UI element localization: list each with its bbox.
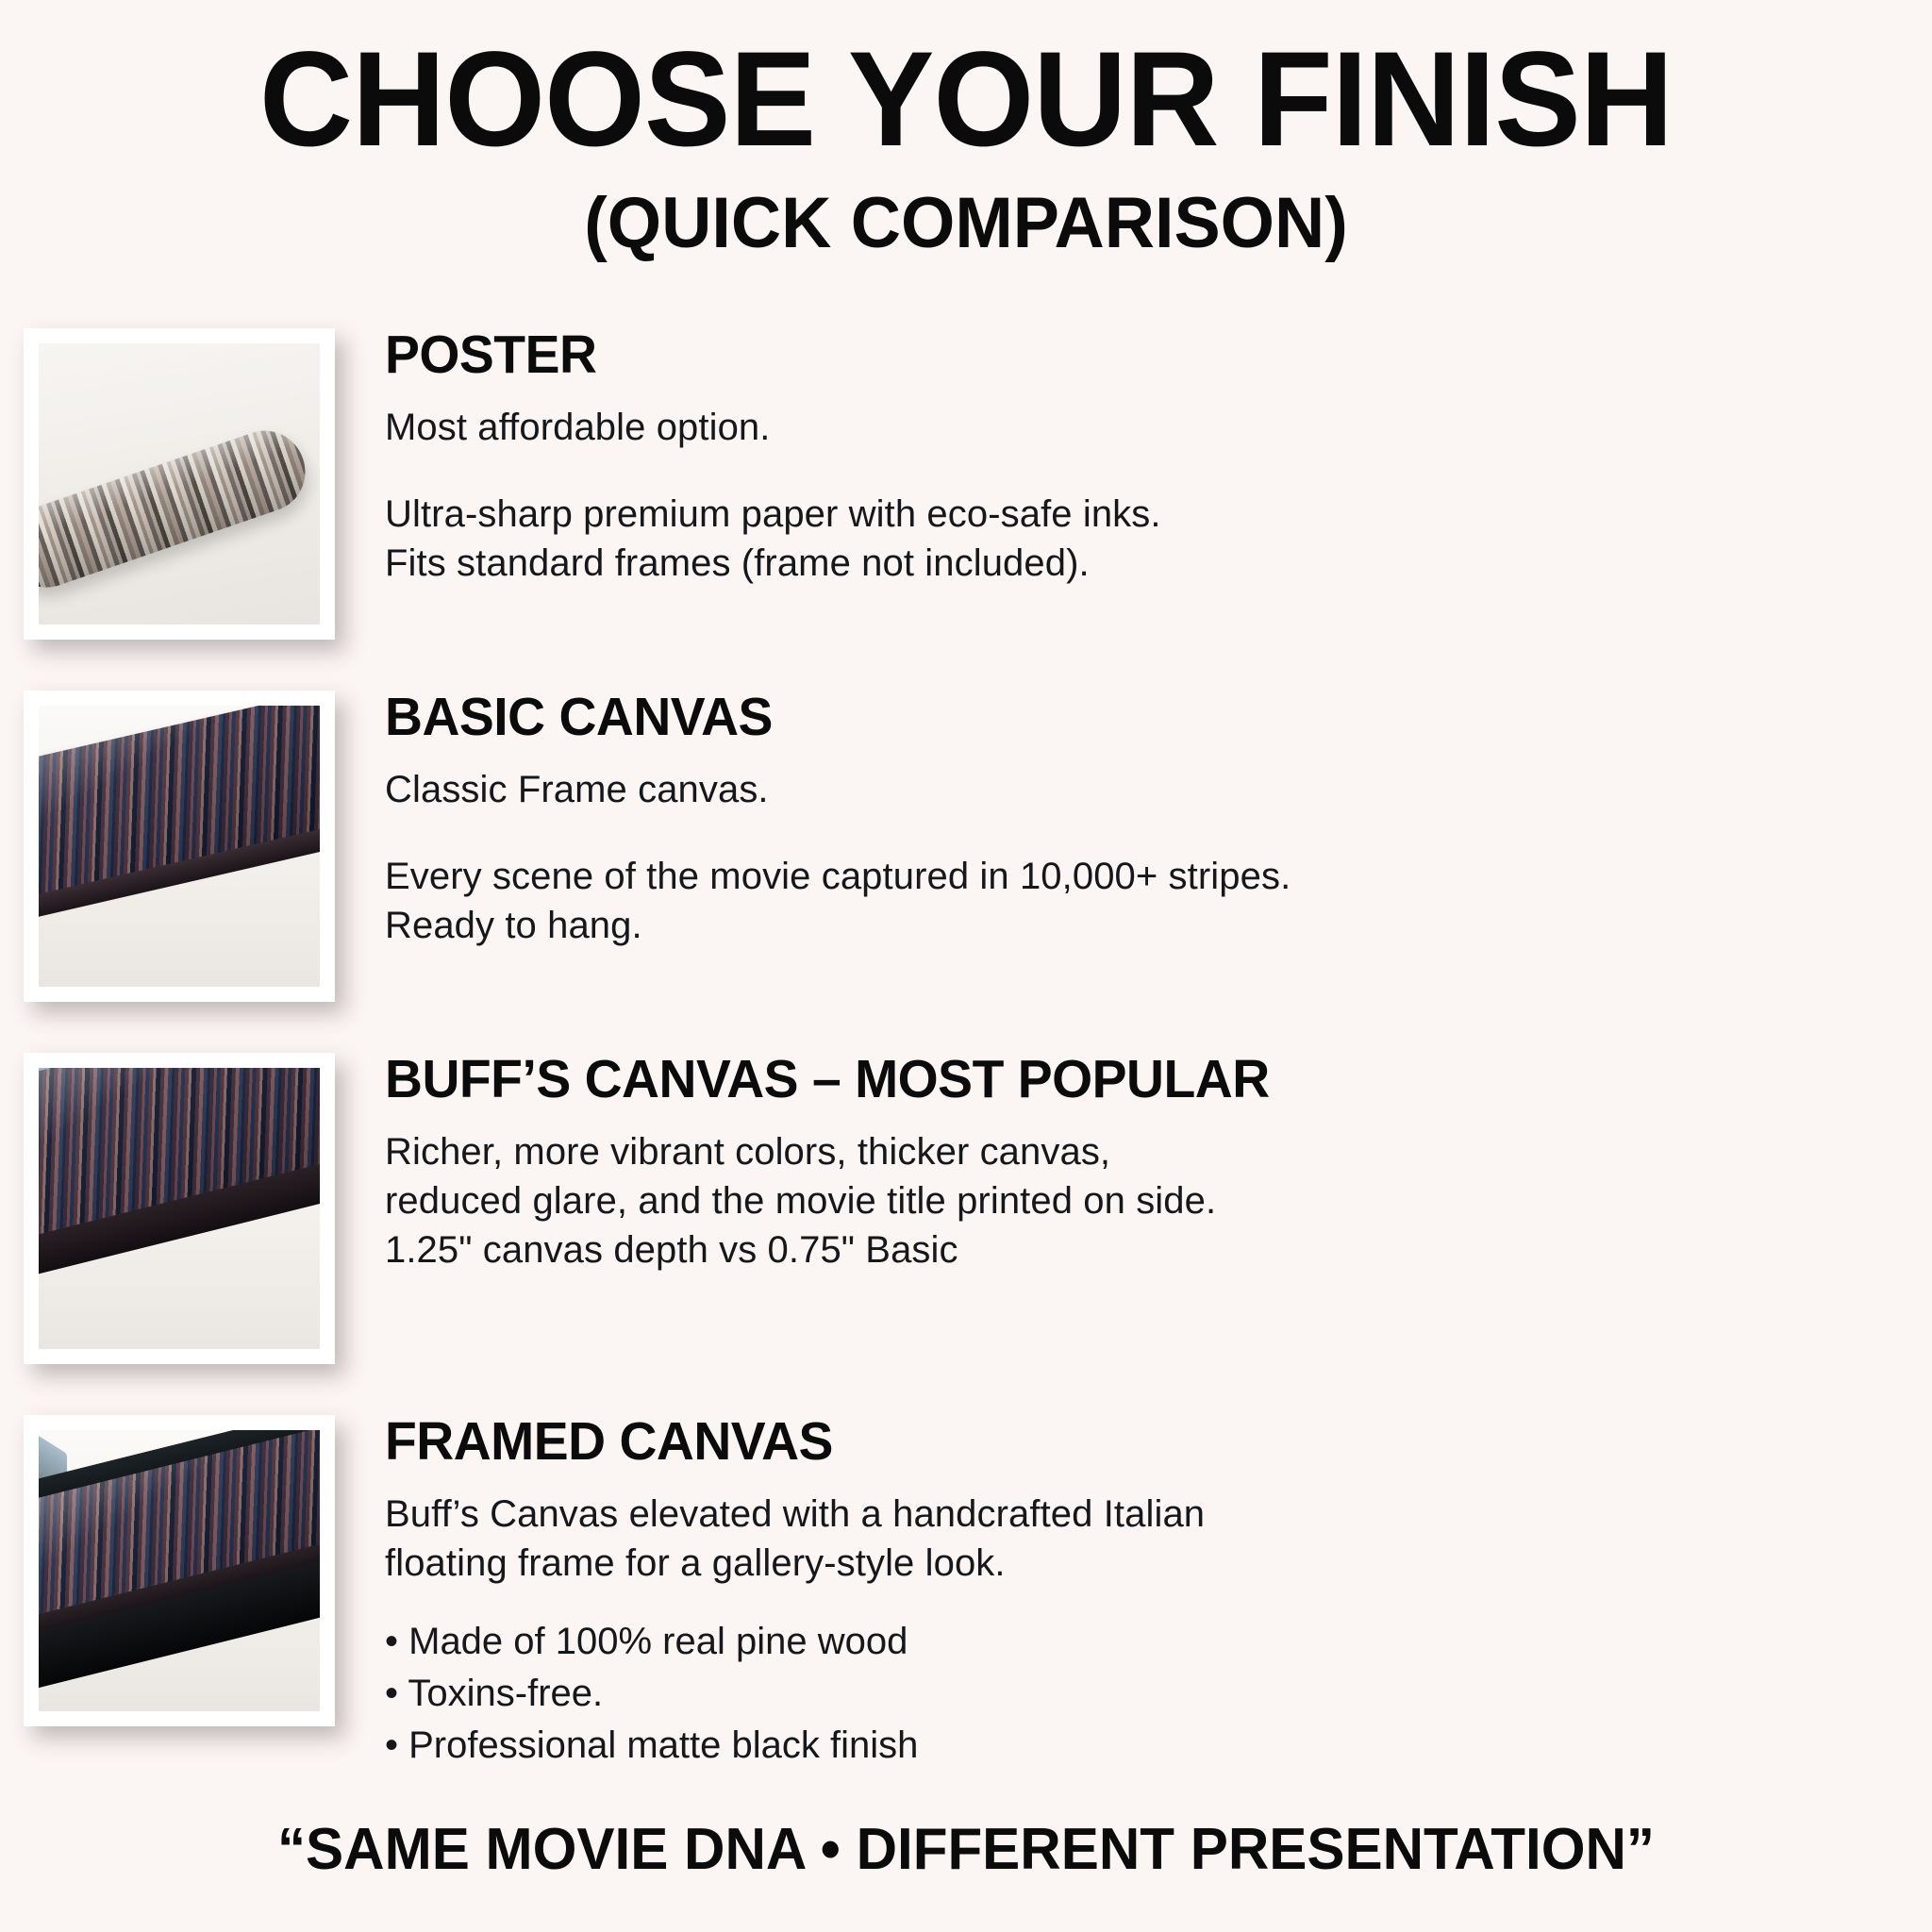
- option-text-basic-canvas: BASIC CANVAS Classic Frame canvas. Every…: [349, 691, 1932, 950]
- option-detail-line: reduced glare, and the movie title print…: [385, 1176, 1875, 1225]
- page-subtitle: (QUICK COMPARISON): [29, 188, 1904, 259]
- option-title: BASIC CANVAS: [385, 691, 1831, 744]
- option-detail-line: 1.25" canvas depth vs 0.75" Basic: [385, 1225, 1875, 1274]
- comparison-infographic: CHOOSE YOUR FINISH (QUICK COMPARISON) PO…: [0, 0, 1932, 1932]
- option-detail-line: floating frame for a gallery-style look.: [385, 1539, 1875, 1588]
- header: CHOOSE YOUR FINISH (QUICK COMPARISON): [0, 0, 1932, 259]
- option-title: POSTER: [385, 328, 1831, 382]
- page-title: CHOOSE YOUR FINISH: [39, 32, 1893, 167]
- footer-tagline: “SAME MOVIE DNA • DIFFERENT PRESENTATION…: [29, 1821, 1904, 1879]
- thumbnail-wrapper: [0, 1053, 349, 1364]
- footer: “SAME MOVIE DNA • DIFFERENT PRESENTATION…: [0, 1821, 1932, 1879]
- thumbnail-wrapper: [0, 691, 349, 1002]
- option-detail-line: Buff’s Canvas elevated with a handcrafte…: [385, 1490, 1875, 1539]
- option-row-buffs-canvas: BUFF’S CANVAS – MOST POPULAR Richer, mor…: [0, 1053, 1932, 1415]
- thumbnail-wrapper: [0, 1415, 349, 1726]
- option-row-framed-canvas: FRAMED CANVAS Buff’s Canvas elevated wit…: [0, 1415, 1932, 1777]
- buffs-canvas-thumbnail[interactable]: [24, 1053, 335, 1364]
- feature-bullet-list: • Made of 100% real pine wood • Toxins-f…: [385, 1616, 1875, 1773]
- option-row-poster: POSTER Most affordable option. Ultra-sha…: [0, 328, 1932, 691]
- option-detail-line: Richer, more vibrant colors, thicker can…: [385, 1127, 1875, 1176]
- option-title: FRAMED CANVAS: [385, 1415, 1831, 1469]
- options-list: POSTER Most affordable option. Ultra-sha…: [0, 328, 1932, 1777]
- option-summary: Classic Frame canvas.: [385, 765, 1875, 814]
- option-text-poster: POSTER Most affordable option. Ultra-sha…: [349, 328, 1932, 588]
- basic-canvas-photo: [39, 706, 320, 987]
- list-item: • Made of 100% real pine wood: [385, 1616, 1875, 1668]
- option-text-buffs-canvas: BUFF’S CANVAS – MOST POPULAR Richer, mor…: [349, 1053, 1932, 1274]
- framed-canvas-thumbnail[interactable]: [24, 1415, 335, 1726]
- list-item: • Toxins-free.: [385, 1668, 1875, 1720]
- buffs-canvas-photo: [39, 1068, 320, 1349]
- option-title: BUFF’S CANVAS – MOST POPULAR: [385, 1053, 1831, 1107]
- option-summary: Most affordable option.: [385, 403, 1875, 452]
- poster-thumbnail[interactable]: [24, 328, 335, 640]
- thumbnail-wrapper: [0, 328, 349, 640]
- option-detail-line: Ultra-sharp premium paper with eco-safe …: [385, 490, 1875, 539]
- option-detail-line: Ready to hang.: [385, 901, 1875, 950]
- framed-canvas-photo: [39, 1430, 320, 1711]
- option-detail-line: Every scene of the movie captured in 10,…: [385, 852, 1875, 901]
- option-detail-line: Fits standard frames (frame not included…: [385, 539, 1875, 588]
- option-text-framed-canvas: FRAMED CANVAS Buff’s Canvas elevated wit…: [349, 1415, 1932, 1773]
- poster-photo: [39, 343, 320, 625]
- list-item: • Professional matte black finish: [385, 1720, 1875, 1772]
- basic-canvas-thumbnail[interactable]: [24, 691, 335, 1002]
- option-row-basic-canvas: BASIC CANVAS Classic Frame canvas. Every…: [0, 691, 1932, 1053]
